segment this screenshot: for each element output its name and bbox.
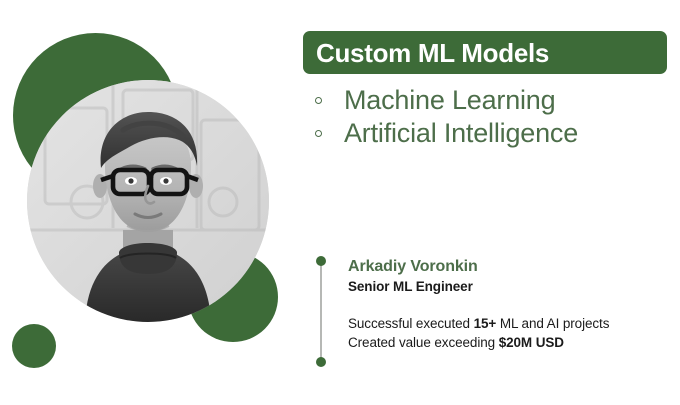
feature-list: Machine Learning Artificial Intelligence (311, 84, 680, 150)
stat-highlight: $20M USD (499, 335, 564, 350)
stats-list: Successful executed 15+ ML and AI projec… (348, 315, 675, 352)
divider-top-dot-icon (316, 256, 326, 266)
list-item-label: Machine Learning (344, 87, 555, 114)
stat-prefix: Created value exceeding (348, 335, 499, 350)
avatar-image (27, 80, 269, 322)
person-name: Arkadiy Voronkin (348, 258, 675, 276)
stat-highlight: 15+ (474, 316, 497, 331)
list-item: Machine Learning (311, 84, 680, 117)
list-item: Artificial Intelligence (311, 117, 680, 150)
content-column: Custom ML Models Machine Learning Artifi… (303, 0, 680, 405)
avatar (27, 80, 269, 322)
stat-prefix: Successful executed (348, 316, 474, 331)
decorative-graphics (0, 0, 300, 405)
circle-bullet-icon (315, 130, 322, 137)
person-role: Senior ML Engineer (348, 278, 675, 296)
page-title: Custom ML Models (303, 31, 667, 74)
stat-suffix: ML and AI projects (496, 316, 609, 331)
profile-details: Arkadiy Voronkin Senior ML Engineer Succ… (315, 258, 675, 352)
headshot-portrait-icon (27, 80, 269, 322)
vertical-divider (320, 261, 322, 365)
slide-canvas: Custom ML Models Machine Learning Artifi… (0, 0, 680, 405)
page-title-text: Custom ML Models (303, 40, 549, 66)
profile-block: Arkadiy Voronkin Senior ML Engineer Succ… (315, 258, 675, 352)
small-green-circle-bottom-left-icon (12, 324, 56, 368)
list-item-label: Artificial Intelligence (344, 120, 578, 147)
stat-line: Successful executed 15+ ML and AI projec… (348, 315, 675, 334)
circle-bullet-icon (315, 97, 322, 104)
divider-bottom-dot-icon (316, 357, 326, 367)
stat-line: Created value exceeding $20M USD (348, 334, 675, 353)
